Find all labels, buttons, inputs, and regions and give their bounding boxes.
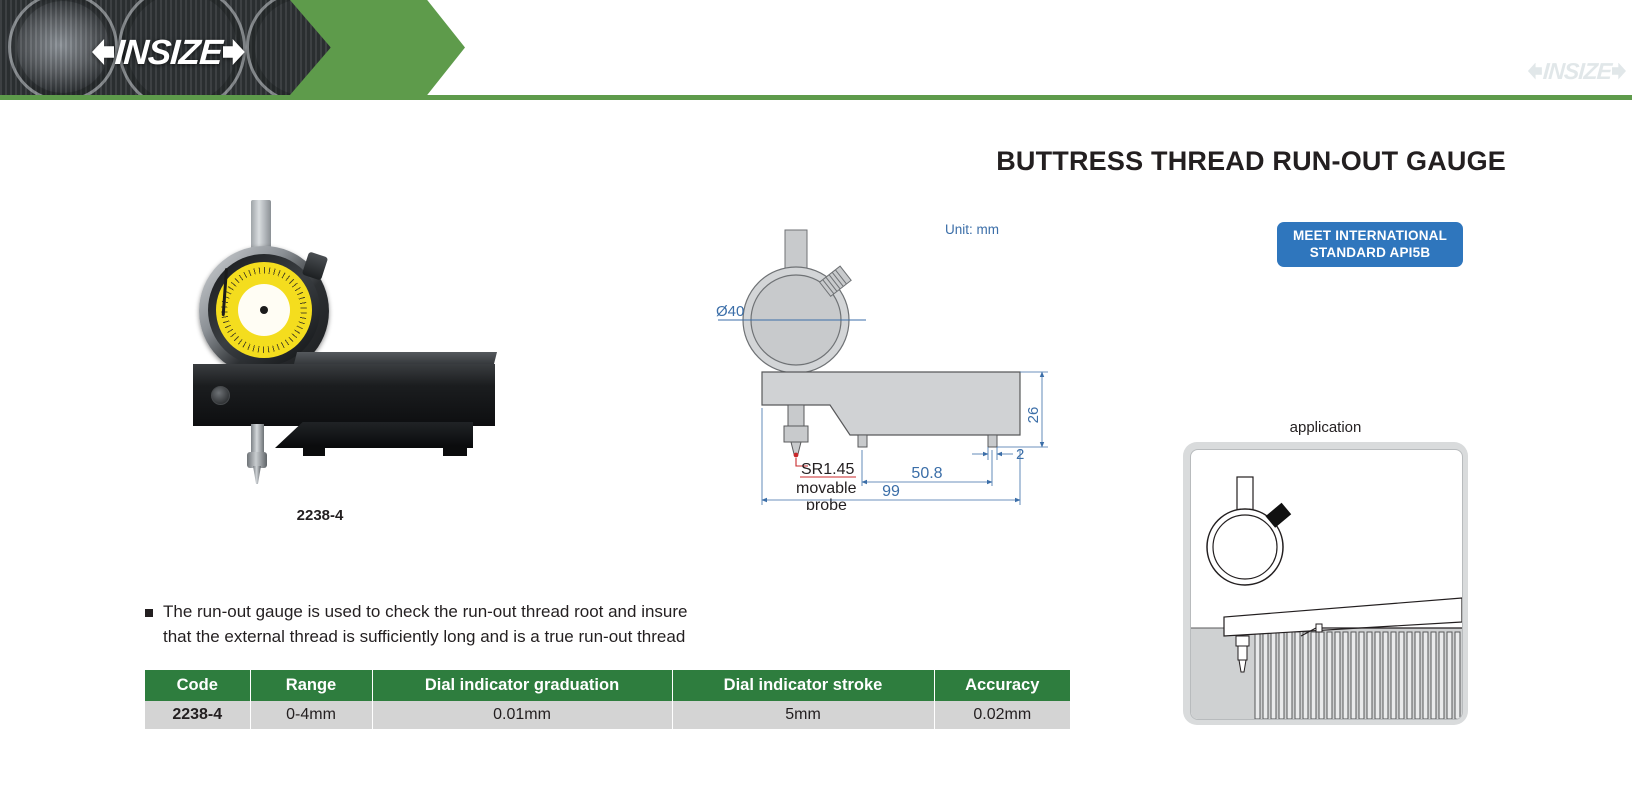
- table-header-stroke: Dial indicator stroke: [672, 670, 934, 701]
- table-header-accuracy: Accuracy: [934, 670, 1070, 701]
- cell-accuracy: 0.02mm: [934, 701, 1070, 729]
- probe-note-line-2: movable: [796, 480, 857, 497]
- dim-diameter-text: Ø40: [716, 303, 744, 320]
- probe-note-line-1: SR1.45: [801, 461, 854, 478]
- table-header-row: Code Range Dial indicator graduation Dia…: [145, 670, 1070, 701]
- page-title: BUTTRESS THREAD RUN-OUT GAUGE: [886, 146, 1506, 177]
- watermark-text: INSIZE: [1542, 60, 1612, 83]
- gauge-foot: [443, 446, 467, 456]
- technical-drawing: Ø40 26 2 SR1.45 movable probe 50.8 99: [660, 210, 1060, 510]
- right-arrow-icon: [1612, 63, 1626, 80]
- table-header-code: Code: [145, 670, 250, 701]
- application-illustration-frame: [1190, 449, 1463, 720]
- description-text: The run-out gauge is used to check the r…: [163, 600, 688, 649]
- page-header: INSIZE: [0, 0, 1632, 100]
- product-code-label: 2238-4: [175, 507, 465, 524]
- header-green-rule: [0, 95, 1632, 100]
- cell-graduation: 0.01mm: [372, 701, 672, 729]
- insize-logo-text: INSIZE: [114, 35, 223, 70]
- dim-height-text: 26: [1025, 407, 1042, 424]
- gauge-body: [193, 364, 495, 426]
- dim-inner-length-text: 50.8: [911, 465, 942, 482]
- bullet-square-icon: [145, 609, 153, 617]
- probe-shaft: [251, 424, 264, 454]
- cell-range: 0-4mm: [250, 701, 372, 729]
- insize-logo-watermark: INSIZE: [1528, 58, 1626, 84]
- cell-code: 2238-4: [145, 701, 250, 729]
- probe-tip-body: [247, 452, 267, 468]
- left-arrow-icon: [92, 39, 114, 65]
- application-illustration: [1191, 450, 1462, 719]
- application-panel: [1183, 442, 1468, 725]
- description-block: The run-out gauge is used to check the r…: [145, 600, 885, 649]
- description-line-1: The run-out gauge is used to check the r…: [163, 600, 688, 625]
- gauge-lower-block: [275, 422, 473, 448]
- probe-point: [253, 466, 261, 484]
- table-header-graduation: Dial indicator graduation: [372, 670, 672, 701]
- spec-table: Code Range Dial indicator graduation Dia…: [145, 670, 1070, 729]
- right-arrow-icon: [223, 39, 245, 65]
- header-green-chevron-tail: [395, 0, 465, 95]
- description-line-2: that the external thread is sufficiently…: [163, 625, 688, 650]
- probe-note-line-3: probe: [806, 497, 847, 510]
- badge-line-2: STANDARD API5B: [1310, 245, 1431, 261]
- gauge-foot: [303, 446, 325, 456]
- table-row: 2238-4 0-4mm 0.01mm 5mm 0.02mm: [145, 701, 1070, 729]
- badge-line-1: MEET INTERNATIONAL: [1293, 228, 1447, 244]
- left-arrow-icon: [1528, 63, 1542, 80]
- dial-hub: [260, 306, 268, 314]
- standard-badge: MEET INTERNATIONAL STANDARD API5B: [1277, 222, 1463, 267]
- dim-total-length-text: 99: [882, 483, 900, 500]
- cell-stroke: 5mm: [672, 701, 934, 729]
- application-label: application: [1183, 419, 1468, 436]
- product-photo: [175, 200, 515, 490]
- insize-logo[interactable]: INSIZE: [92, 33, 245, 71]
- clamp-screw: [211, 386, 230, 405]
- table-header-range: Range: [250, 670, 372, 701]
- technical-drawing-svg: Ø40 26 2 SR1.45 movable probe 50.8 99: [660, 210, 1060, 510]
